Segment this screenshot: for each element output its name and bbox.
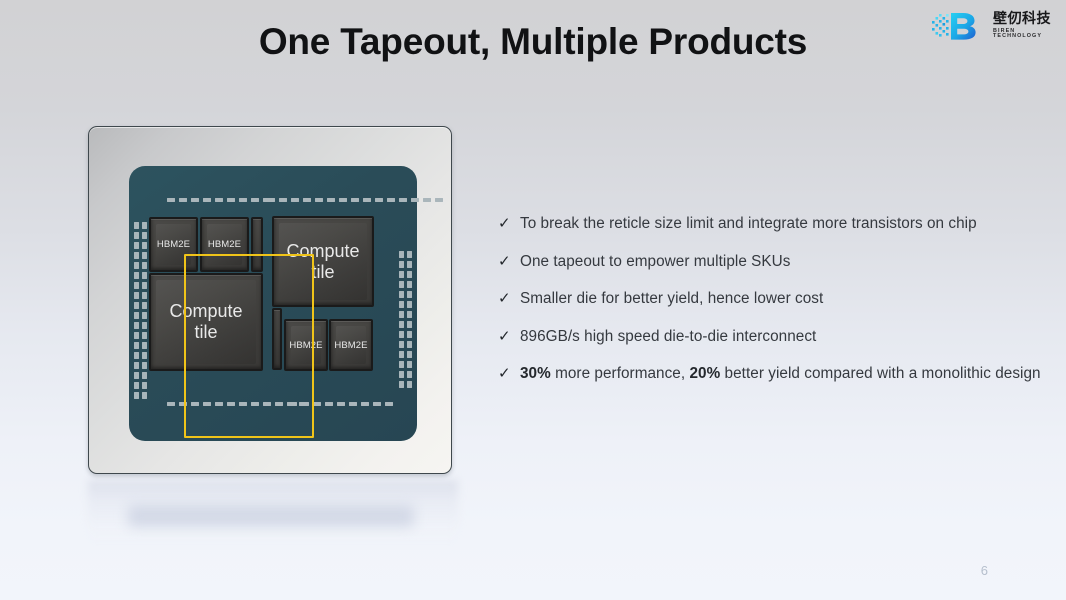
die-sliver-top — [251, 217, 263, 272]
brand-logo: 壁仞科技 BIREN TECHNOLOGY — [930, 8, 1058, 44]
logo-english-name: BIREN TECHNOLOGY — [993, 29, 1058, 40]
interposer-pad-grid-right — [399, 251, 412, 388]
biren-b-mark-icon — [930, 11, 988, 41]
bullet-text: Smaller die for better yield, hence lowe… — [520, 287, 823, 311]
list-item: ✓ 896GB/s high speed die-to-die intercon… — [498, 325, 1054, 350]
checkmark-icon: ✓ — [498, 325, 520, 349]
die-label-line1: Compute — [169, 301, 242, 321]
page-number: 6 — [981, 563, 988, 578]
die-hbm2e-top-left: HBM2E — [149, 217, 198, 272]
die-compute-tile-left: Compute tile — [149, 273, 263, 371]
bullet-text: One tapeout to empower multiple SKUs — [520, 250, 790, 274]
die-label: HBM2E — [157, 239, 190, 250]
die-label: Compute tile — [169, 301, 242, 343]
feature-bullet-list: ✓ To break the reticle size limit and in… — [498, 212, 1054, 400]
die-label: HBM2E — [208, 239, 241, 250]
page-title: One Tapeout, Multiple Products — [0, 18, 1066, 66]
bullet-text: 896GB/s high speed die-to-die interconne… — [520, 325, 816, 349]
die-label-line2: tile — [311, 262, 334, 282]
list-item: ✓ To break the reticle size limit and in… — [498, 212, 1054, 237]
interposer-pad-grid-left — [134, 222, 147, 399]
die-compute-tile-right: Compute tile — [272, 216, 374, 307]
interposer-dash-row-top-right — [267, 198, 443, 202]
checkmark-icon: ✓ — [498, 362, 520, 386]
checkmark-icon: ✓ — [498, 287, 520, 311]
chip-interposer: HBM2E HBM2E Compute tile Compute tile — [129, 166, 417, 441]
chip-reflection-bar — [128, 505, 414, 527]
slide: One Tapeout, Multiple Products — [0, 0, 1066, 600]
chiplet-package-diagram: HBM2E HBM2E Compute tile Compute tile — [85, 123, 455, 479]
die-label: HBM2E — [289, 340, 322, 351]
die-hbm2e-bottom-right: HBM2E — [329, 319, 373, 371]
chip-package-substrate: HBM2E HBM2E Compute tile Compute tile — [88, 126, 452, 474]
die-label-line2: tile — [194, 322, 217, 342]
checkmark-icon: ✓ — [498, 212, 520, 236]
interposer-dash-row-top-left — [167, 198, 271, 202]
interposer-dash-row-bottom-left — [167, 402, 307, 406]
list-item: ✓ Smaller die for better yield, hence lo… — [498, 287, 1054, 312]
list-item: ✓ 30% more performance, 20% better yield… — [498, 362, 1054, 387]
die-hbm2e-top-center: HBM2E — [200, 217, 249, 272]
die-label-line1: Compute — [286, 241, 359, 261]
bullet-text: To break the reticle size limit and inte… — [520, 212, 977, 236]
checkmark-icon: ✓ — [498, 250, 520, 274]
bullet-text: 30% more performance, 20% better yield c… — [520, 362, 1041, 386]
logo-wordmark: 壁仞科技 BIREN TECHNOLOGY — [993, 12, 1058, 39]
list-item: ✓ One tapeout to empower multiple SKUs — [498, 250, 1054, 275]
interposer-dash-row-bottom-right — [289, 402, 393, 406]
logo-chinese-name: 壁仞科技 — [993, 12, 1058, 26]
die-label: Compute tile — [286, 241, 359, 283]
die-hbm2e-bottom-left: HBM2E — [284, 319, 328, 371]
die-label: HBM2E — [334, 340, 367, 351]
die-sliver-bottom — [272, 308, 282, 370]
